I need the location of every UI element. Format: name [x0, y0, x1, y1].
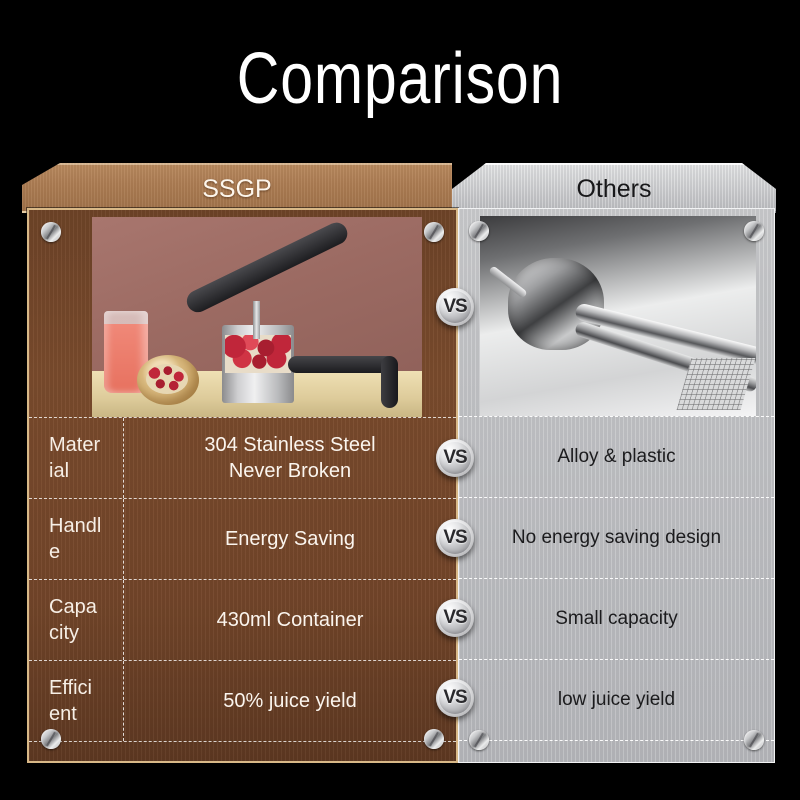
ssgp-header-label: SSGP: [22, 163, 452, 213]
page-title: Comparison: [72, 36, 728, 122]
ssgp-product-photo: [92, 217, 422, 417]
table-row: Handle Energy Saving: [29, 498, 456, 579]
others-product-photo: [480, 216, 756, 416]
ssgp-panel: Material 304 Stainless Steel Never Broke…: [27, 208, 458, 763]
vs-badge-label: VS: [443, 296, 466, 318]
row-label-cell: Capacity: [29, 580, 124, 660]
vs-badge-label: VS: [443, 447, 466, 469]
others-value: No energy saving design: [459, 498, 774, 578]
panel-rivet-icon: [744, 221, 764, 241]
row-label-cell: Handle: [29, 499, 124, 579]
row-label: Material: [49, 432, 103, 484]
ssgp-value: 50% juice yield: [124, 661, 456, 741]
table-row: Material 304 Stainless Steel Never Broke…: [29, 417, 456, 498]
ssgp-value: 304 Stainless Steel Never Broken: [124, 418, 456, 498]
row-label: Capacity: [49, 594, 103, 646]
row-label: Handle: [49, 513, 103, 565]
table-row: Capacity 430ml Container: [29, 579, 456, 660]
panel-rivet-icon: [424, 222, 444, 242]
vs-badge-row-3: VS: [436, 599, 474, 637]
column-header-ssgp: SSGP: [22, 163, 452, 213]
squeezer-mesh-mat: [677, 358, 756, 410]
table-row: low juice yield: [459, 659, 774, 741]
press-shaft: [253, 301, 260, 339]
table-row: Efficient 50% juice yield: [29, 660, 456, 742]
vs-badge-row-2: VS: [436, 519, 474, 557]
press-lever-handle: [183, 219, 351, 316]
vs-badge-row-1: VS: [436, 439, 474, 477]
pomegranate-half: [137, 355, 199, 405]
press-base-handle: [288, 356, 396, 373]
others-spec-table: Alloy & plastic No energy saving design …: [459, 416, 774, 741]
panel-rivet-icon: [744, 730, 764, 750]
column-header-others: Others: [452, 163, 776, 213]
others-header-label: Others: [452, 163, 776, 213]
row-label-cell: Material: [29, 418, 124, 498]
panel-rivet-icon: [469, 221, 489, 241]
ssgp-value: Energy Saving: [124, 499, 456, 579]
others-value: low juice yield: [459, 660, 774, 740]
table-row: Alloy & plastic: [459, 416, 774, 497]
panel-rivet-icon: [41, 729, 61, 749]
row-label-cell: Efficient: [29, 661, 124, 741]
ssgp-value: 430ml Container: [124, 580, 456, 660]
row-label: Efficient: [49, 675, 103, 727]
comparison-infographic: Comparison SSGP Others Material 304 Stai…: [0, 0, 800, 800]
table-row: Small capacity: [459, 578, 774, 659]
vs-badge-row-4: VS: [436, 679, 474, 717]
others-value: Alloy & plastic: [459, 417, 774, 497]
vs-badge-label: VS: [443, 527, 466, 549]
vs-badge-photo: VS: [436, 288, 474, 326]
ssgp-spec-table: Material 304 Stainless Steel Never Broke…: [29, 417, 456, 742]
vs-badge-label: VS: [443, 607, 466, 629]
panel-rivet-icon: [424, 729, 444, 749]
table-row: No energy saving design: [459, 497, 774, 578]
others-value: Small capacity: [459, 579, 774, 659]
others-panel: Alloy & plastic No energy saving design …: [458, 208, 775, 763]
vs-badge-label: VS: [443, 687, 466, 709]
panel-rivet-icon: [469, 730, 489, 750]
panel-rivet-icon: [41, 222, 61, 242]
